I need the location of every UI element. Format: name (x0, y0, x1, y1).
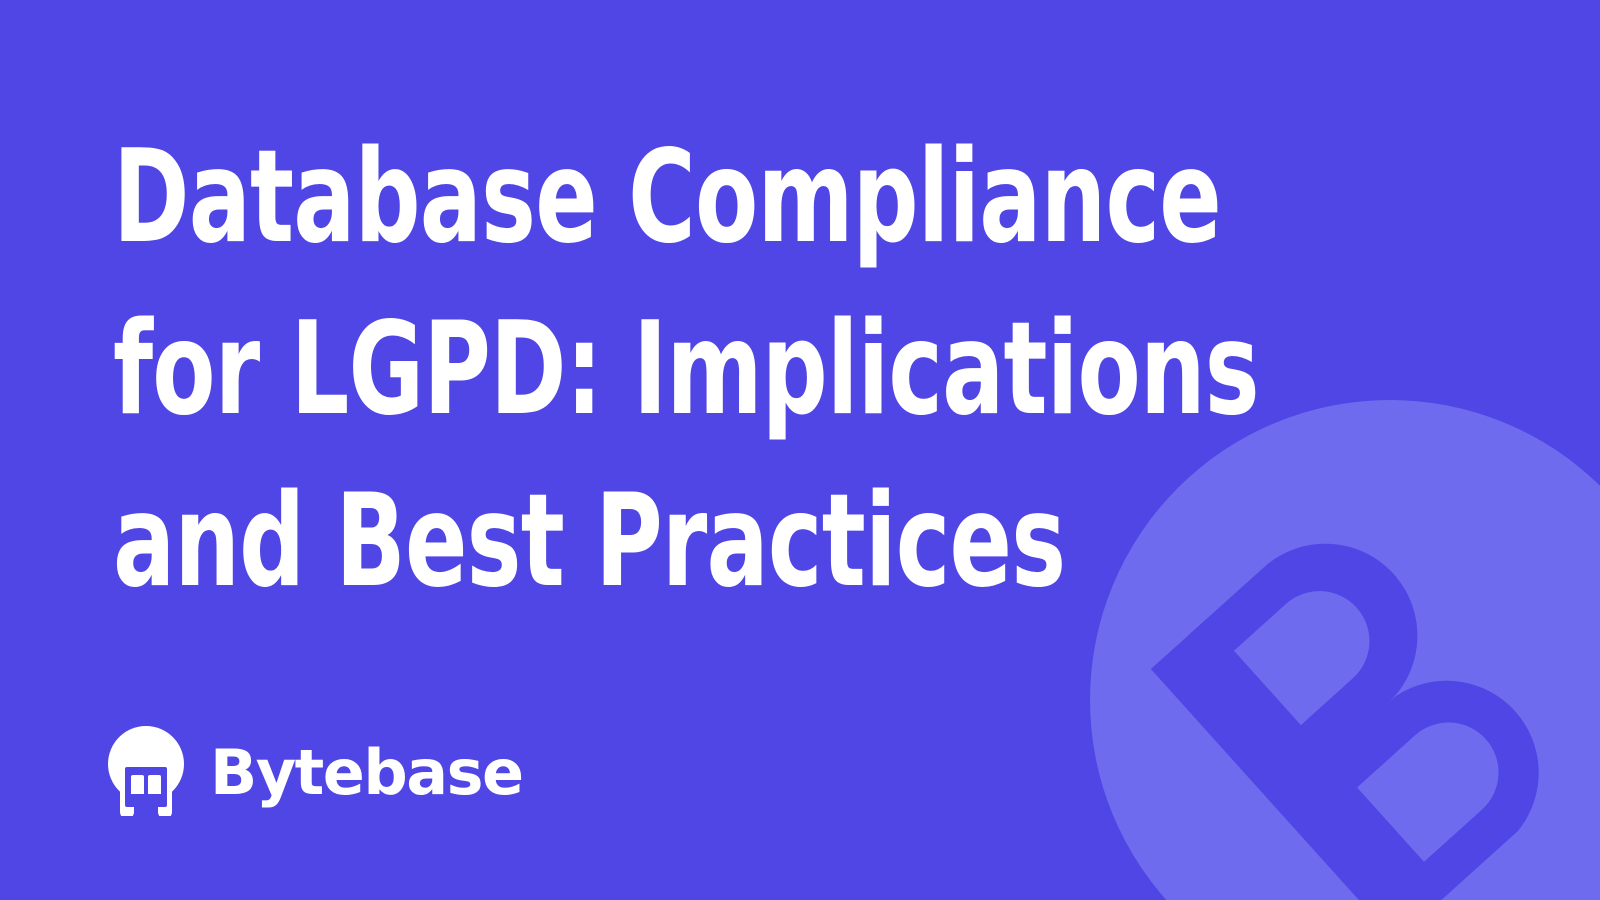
page-title-line-3: and Best Practices (113, 456, 1129, 628)
bytebase-logo-icon (108, 726, 184, 816)
page-title: Database Compliance for LGPD: Implicatio… (113, 112, 1383, 628)
brand-name: Bytebase (210, 742, 523, 804)
page-title-line-2: for LGPD: Implications (113, 284, 1129, 456)
cover-card: Database Compliance for LGPD: Implicatio… (0, 0, 1600, 900)
page-title-line-1: Database Compliance (113, 112, 1129, 284)
brand-lockup: Bytebase (108, 726, 523, 816)
